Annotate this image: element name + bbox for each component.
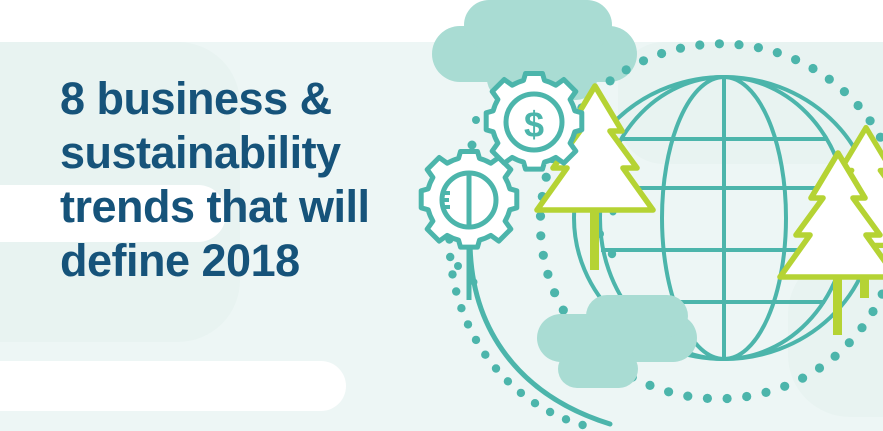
dollar-gear: $ <box>486 74 582 170</box>
illustration-canvas: $ <box>0 0 883 431</box>
dollar-sign-icon: $ <box>524 104 544 145</box>
panel-white-bottom-left <box>0 361 346 411</box>
analytics-gear <box>421 152 517 248</box>
panel-white-mid-left <box>0 185 226 242</box>
article-hero-banner: $ 8 business & sustainability trends tha… <box>0 0 883 431</box>
